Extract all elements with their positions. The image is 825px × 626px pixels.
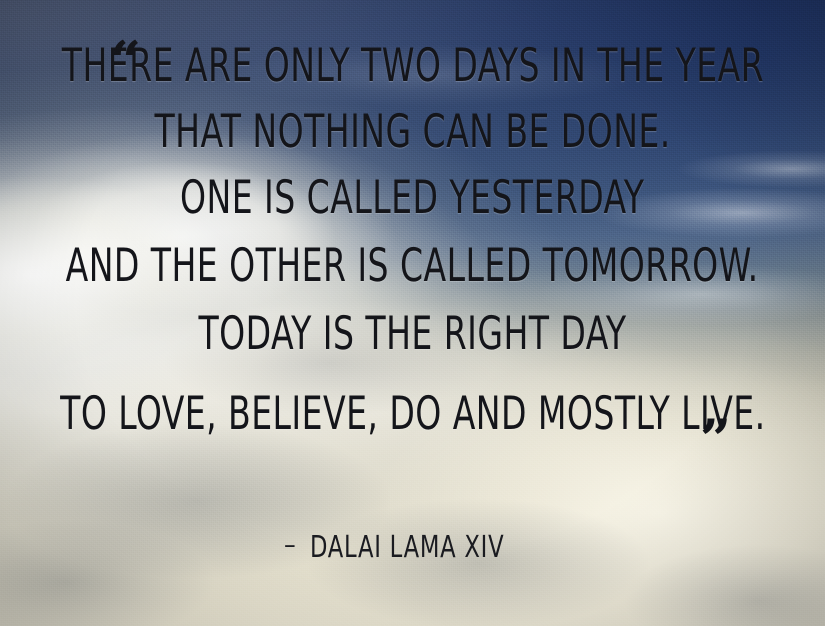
attribution: – Dalai Lama XIV [0,530,825,565]
attribution-dash: – [284,532,296,558]
quote-poster: “ There are only two days in the year th… [0,0,825,626]
quote-line-3-text: One is called Yesterday [180,174,644,220]
quote-line-2-text: that nothing can be done. [154,108,670,154]
quote-line-1-text: There are only two days in the year [61,42,763,88]
attribution-name: Dalai Lama XIV [310,530,541,565]
open-quote-mark: “ [110,34,141,88]
quote-line-2: that nothing can be done. [90,108,735,154]
quote-line-5-text: Today is the right day [198,310,626,356]
quote-line-4-text: and the other is called Tomorrow. [66,242,759,288]
quote-line-3: One is called Yesterday [122,174,703,220]
quote-line-5: Today is the right day [145,310,680,356]
close-quote-mark: ” [700,412,731,466]
quote-line-4: and the other is called Tomorrow. [0,242,825,288]
attribution-name-text: Dalai Lama XIV [310,530,504,565]
quote-line-6-text: to Love, Believe, Do and mostly Live. [60,390,765,436]
